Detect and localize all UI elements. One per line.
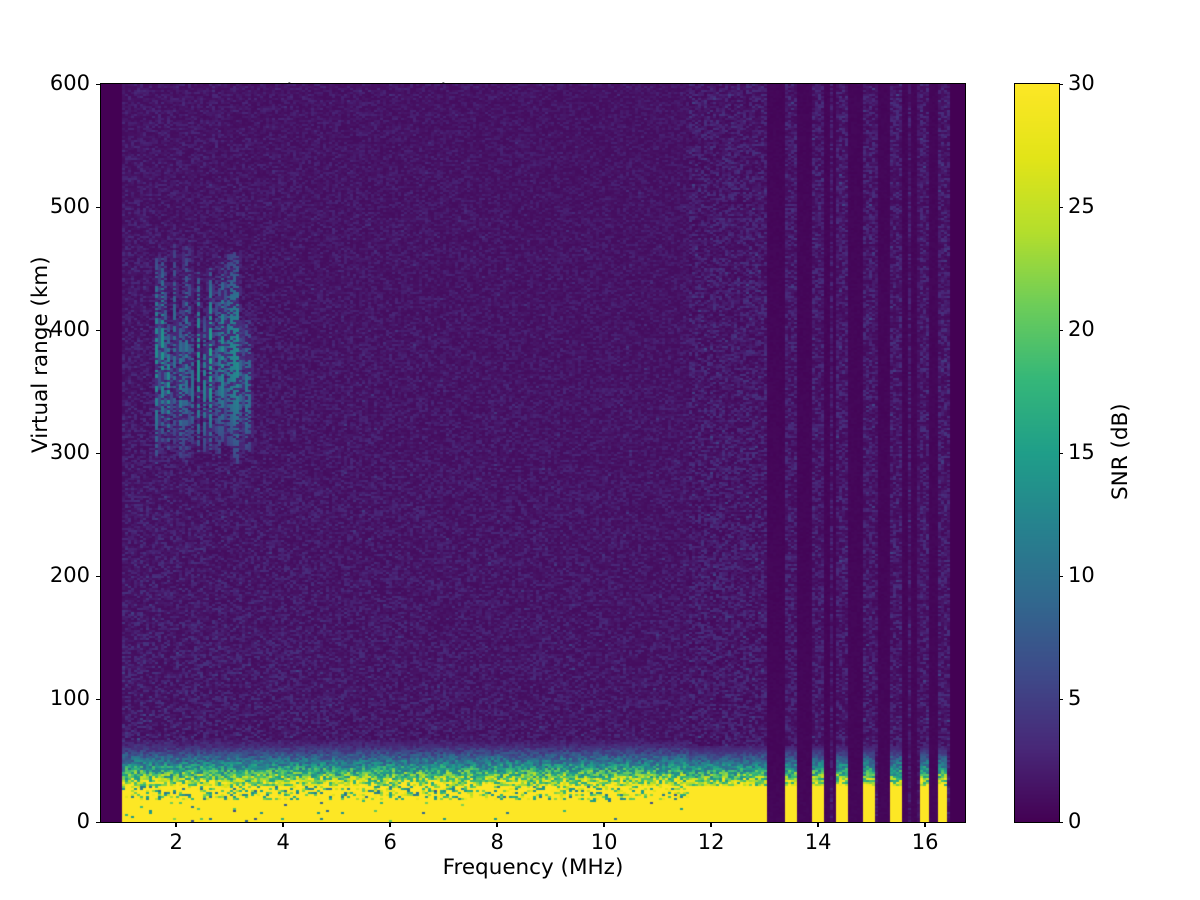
x-tick-label: 14 — [778, 832, 858, 853]
colorbar-tick — [1059, 453, 1064, 454]
y-tick-label: 500 — [5, 196, 90, 217]
y-tick — [96, 453, 100, 454]
x-tick-label: 2 — [136, 832, 216, 853]
y-tick — [96, 699, 100, 700]
y-tick — [96, 330, 100, 331]
x-tick-label: 6 — [350, 832, 430, 853]
y-tick — [96, 84, 100, 85]
y-tick-label: 200 — [5, 565, 90, 586]
x-tick — [924, 823, 925, 827]
colorbar-tick — [1059, 699, 1064, 700]
x-tick — [389, 823, 390, 827]
colorbar-tick-label: 5 — [1068, 688, 1128, 709]
x-tick — [817, 823, 818, 827]
y-tick-label: 600 — [5, 73, 90, 94]
x-tick-label: 4 — [243, 832, 323, 853]
colorbar-tick — [1059, 330, 1064, 331]
colorbar-gradient — [1015, 84, 1059, 822]
colorbar-tick-label: 0 — [1068, 811, 1128, 832]
y-tick-label: 100 — [5, 688, 90, 709]
x-tick — [496, 823, 497, 827]
x-tick — [710, 823, 711, 827]
colorbar[interactable] — [1014, 83, 1060, 823]
y-tick-label: 0 — [5, 811, 90, 832]
colorbar-tick-label: 30 — [1068, 73, 1128, 94]
colorbar-tick-label: 25 — [1068, 196, 1128, 217]
x-tick — [282, 823, 283, 827]
colorbar-tick-label: 10 — [1068, 565, 1128, 586]
colorbar-tick — [1059, 822, 1064, 823]
x-tick — [175, 823, 176, 827]
x-tick-label: 10 — [564, 832, 644, 853]
y-axis-label: Virtual range (km) — [28, 256, 53, 453]
colorbar-tick — [1059, 84, 1064, 85]
y-tick — [96, 207, 100, 208]
x-tick-label: 12 — [671, 832, 751, 853]
heatmap-plot-area[interactable] — [100, 83, 966, 823]
y-tick — [96, 822, 100, 823]
x-tick-label: 8 — [457, 832, 537, 853]
colorbar-label: SNR (dB) — [1108, 403, 1133, 500]
x-tick — [603, 823, 604, 827]
ionogram-figure: IRF Kiruna Ionosonde KI167 2026-03-19 00… — [0, 0, 1200, 900]
ionogram-heatmap — [101, 84, 965, 822]
x-axis-label: Frequency (MHz) — [100, 855, 966, 880]
colorbar-tick — [1059, 576, 1064, 577]
y-tick — [96, 576, 100, 577]
x-tick-label: 16 — [885, 832, 965, 853]
colorbar-tick — [1059, 207, 1064, 208]
colorbar-tick-label: 20 — [1068, 319, 1128, 340]
